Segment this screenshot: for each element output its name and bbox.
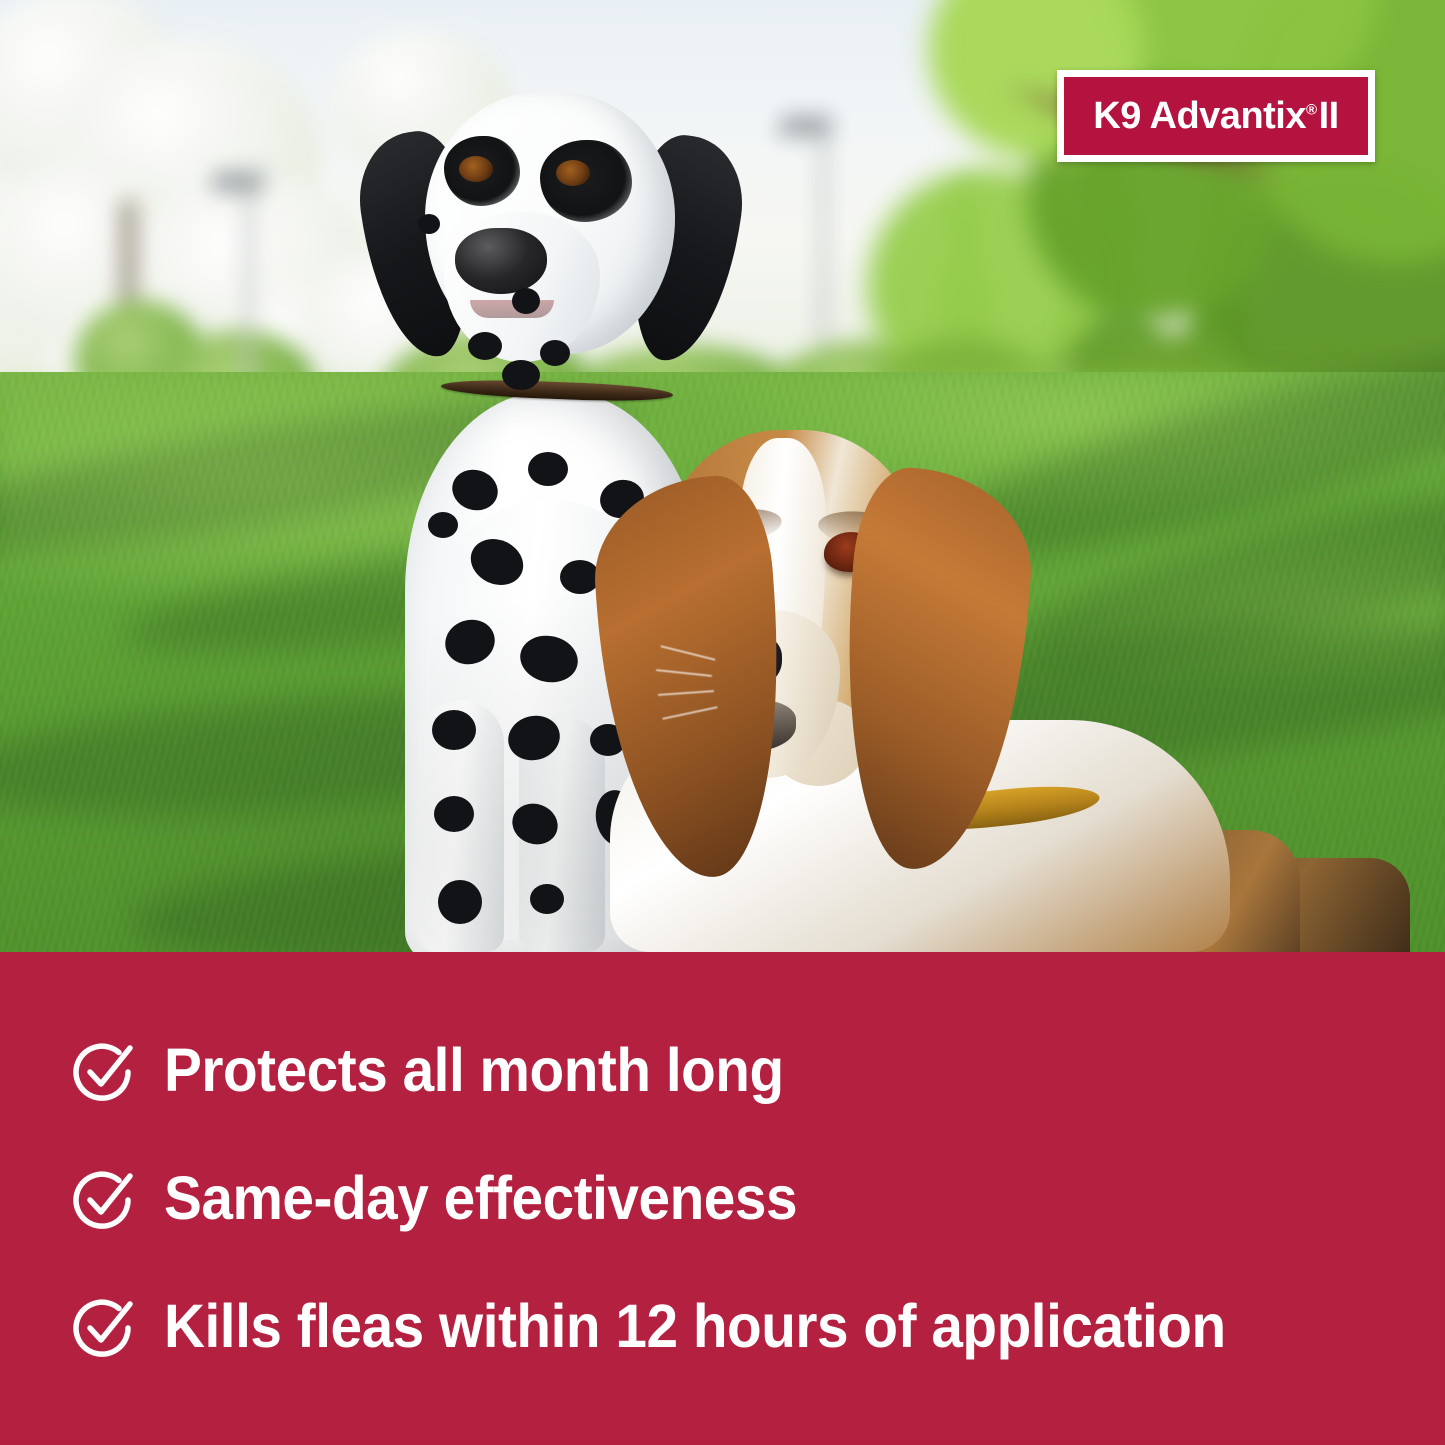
brand-logo-badge[interactable]: K9 Advantix®II [1057, 70, 1375, 162]
registered-trademark-icon: ® [1306, 101, 1317, 118]
circle-check-icon [72, 1039, 136, 1103]
feature-bullet: Same-day effectiveness [72, 1135, 1445, 1263]
feature-bullet-label: Kills fleas within 12 hours of applicati… [164, 1295, 1226, 1358]
brand-logo-name: K9 Advantix [1093, 95, 1306, 137]
feature-bullet: Kills fleas within 12 hours of applicati… [72, 1263, 1445, 1391]
product-ad-image: K9 Advantix®II Protects all month long S… [0, 0, 1445, 1445]
dalmatian-nose [455, 228, 547, 294]
feature-bullet-label: Protects all month long [164, 1039, 784, 1102]
circle-check-icon [72, 1295, 136, 1359]
brand-logo-text: K9 Advantix®II [1093, 97, 1338, 135]
feature-bullet: Protects all month long [72, 1007, 1445, 1135]
brand-logo-version: II [1319, 95, 1339, 137]
feature-banner: Protects all month long Same-day effecti… [0, 952, 1445, 1445]
dalmatian-eye-right [556, 160, 590, 186]
brand-logo-inner: K9 Advantix®II [1064, 77, 1368, 155]
circle-check-icon [72, 1167, 136, 1231]
dalmatian-eye-left [459, 156, 493, 182]
feature-bullet-label: Same-day effectiveness [164, 1167, 797, 1230]
